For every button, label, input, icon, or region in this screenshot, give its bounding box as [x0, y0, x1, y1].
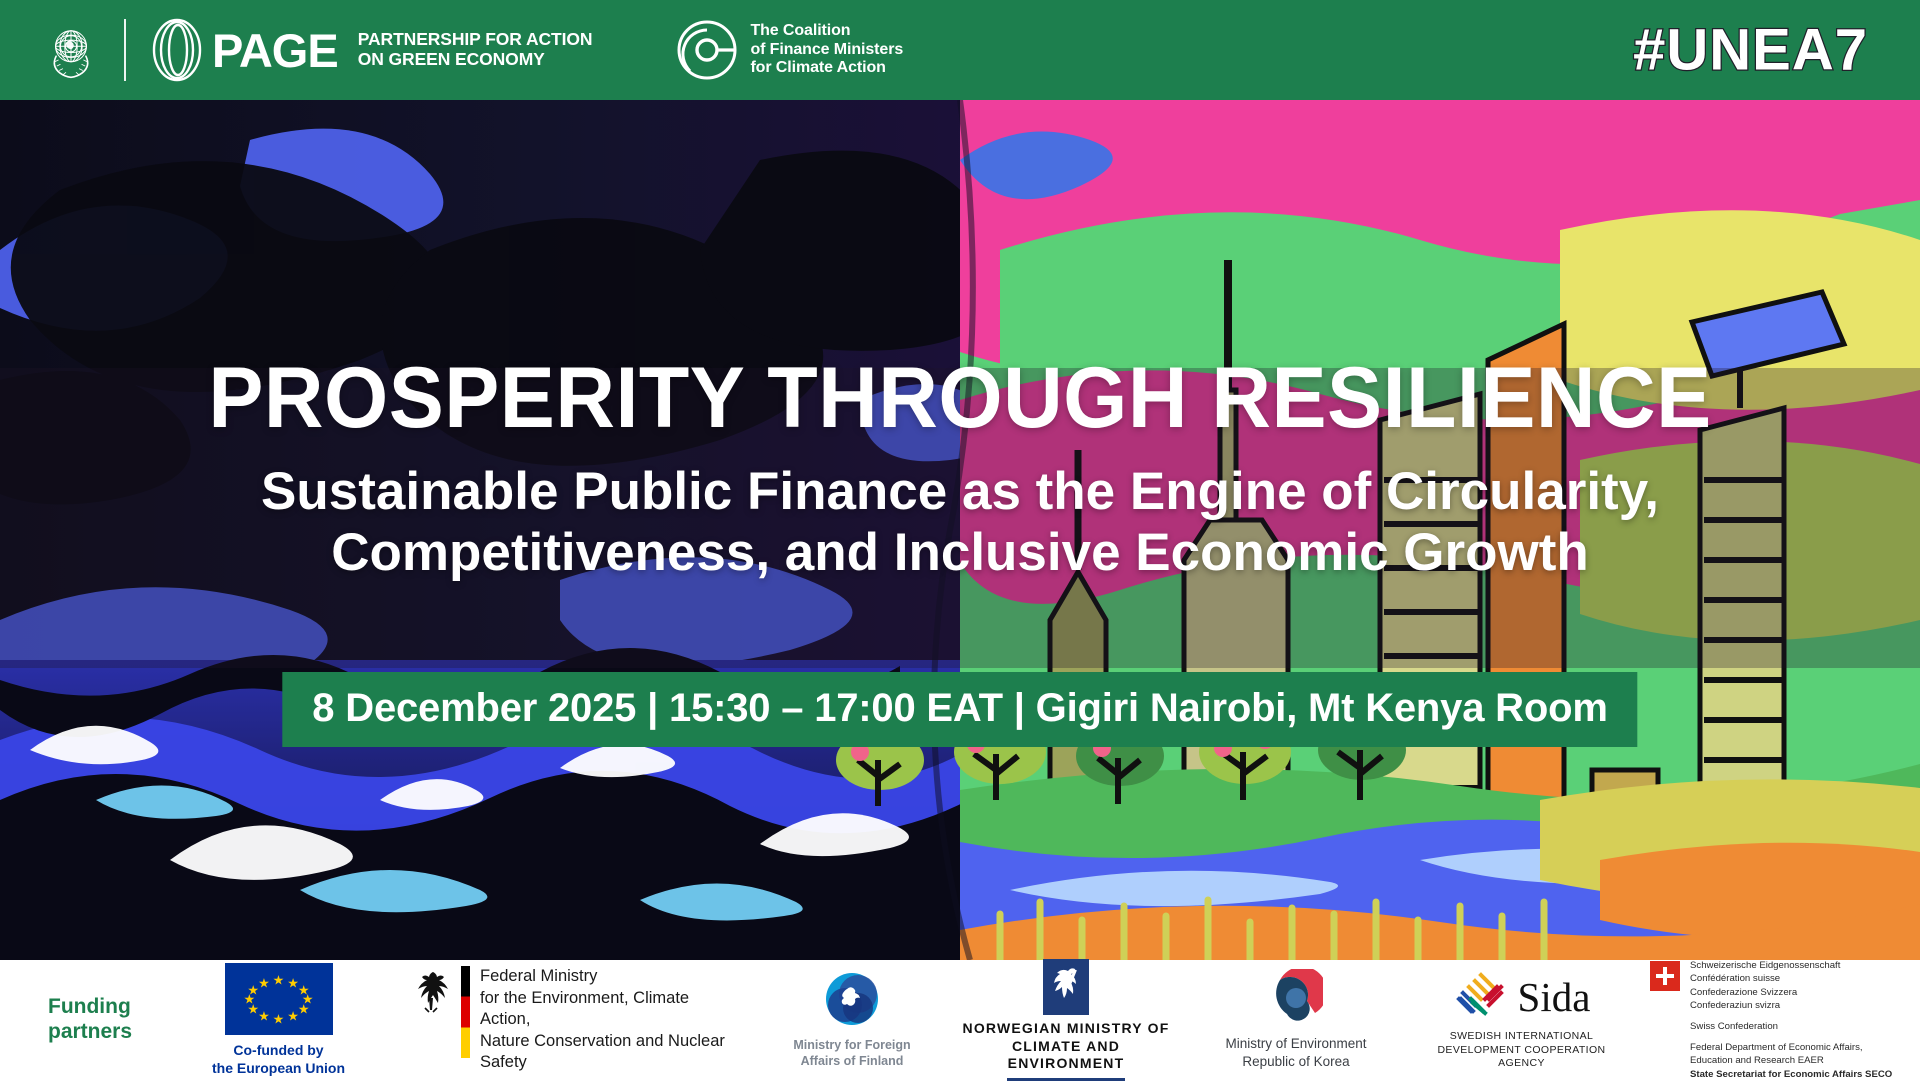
partner-logo-norway-kld: NORWEGIAN MINISTRY OF CLIMATE AND ENVIRO…: [961, 959, 1171, 1081]
un-emblem-icon: [40, 19, 102, 81]
unea7-hashtag: #UNEA7: [1633, 17, 1868, 84]
page-tagline-line-2: ON GREEN ECONOMY: [358, 50, 593, 70]
finland-lion-icon: [825, 972, 879, 1026]
eu-star-icon: ★: [287, 1010, 299, 1023]
ch-line-4: Confederaziun svizra: [1690, 999, 1892, 1013]
sida-caption-line-2: DEVELOPMENT COOPERATION AGENCY: [1419, 1044, 1624, 1071]
page-tagline-line-1: PARTNERSHIP FOR ACTION: [358, 30, 593, 50]
partner-logo-sida: Sida SWEDISH INTERNATIONAL DEVELOPMENT C…: [1419, 969, 1624, 1071]
eu-star-icon: ★: [273, 973, 285, 986]
header-bar: PAGE PARTNERSHIP FOR ACTION ON GREEN ECO…: [0, 0, 1920, 100]
norway-caption: NORWEGIAN MINISTRY OF CLIMATE AND ENVIRO…: [961, 1020, 1171, 1074]
kr-caption-line-1: Ministry of Environment: [1201, 1035, 1391, 1053]
funding-partners-footer: Funding partners ★★★★★★★★★★★★ Co-funded …: [0, 960, 1920, 1080]
swiss-seco-text: Schweizerische Eidgenossenschaft Confédé…: [1690, 959, 1892, 1081]
kr-caption-line-2: Republic of Korea: [1201, 1053, 1391, 1071]
eu-star-icon: ★: [258, 1010, 270, 1023]
de-line-3: Nature Conservation and Nuclear Safety: [480, 1031, 731, 1074]
page-subtitle: Sustainable Public Finance as the Engine…: [0, 461, 1920, 584]
coalition-line-2: of Finance Ministers: [750, 41, 903, 60]
eu-star-icon: ★: [273, 1012, 285, 1025]
page-tagline: PARTNERSHIP FOR ACTION ON GREEN ECONOMY: [358, 30, 593, 69]
sida-logo-row: Sida: [1419, 969, 1624, 1025]
coalition-text: The Coalition of Finance Ministers for C…: [750, 22, 903, 79]
fi-caption-line-1: Ministry for Foreign: [757, 1037, 947, 1053]
coalition-line-1: The Coalition: [750, 22, 903, 41]
swiss-cross-icon: [1650, 961, 1680, 991]
eu-star-icon: ★: [258, 976, 270, 989]
de-line-1: Federal Ministry: [480, 966, 731, 987]
no-caption-line-2: CLIMATE AND ENVIRONMENT: [961, 1038, 1171, 1074]
no-caption-line-1: NORWEGIAN MINISTRY OF: [961, 1020, 1171, 1038]
partner-logo-switzerland-seco: Schweizerische Eidgenossenschaft Confédé…: [1650, 959, 1920, 1081]
sida-diamond-icon: [1453, 969, 1509, 1025]
korea-caption: Ministry of Environment Republic of Kore…: [1201, 1035, 1391, 1070]
german-flag-bar-icon: [461, 966, 470, 1058]
finland-caption: Ministry for Foreign Affairs of Finland: [757, 1037, 947, 1069]
page-logo: PAGE PARTNERSHIP FOR ACTION ON GREEN ECO…: [148, 18, 592, 82]
event-banner: PAGE PARTNERSHIP FOR ACTION ON GREEN ECO…: [0, 0, 1920, 1080]
korea-taegeuk-icon: [1269, 969, 1323, 1023]
sida-caption: SWEDISH INTERNATIONAL DEVELOPMENT COOPER…: [1419, 1030, 1624, 1071]
ch-spacer-1: [1690, 1013, 1892, 1020]
eu-caption-line-1: Co-funded by: [186, 1042, 371, 1059]
ch-line-5: Swiss Confederation: [1690, 1020, 1892, 1034]
partner-logo-finland-mfa: Ministry for Foreign Affairs of Finland: [757, 972, 947, 1069]
title-block: PROSPERITY THROUGH RESILIENCE Sustainabl…: [0, 355, 1920, 584]
fi-caption-line-2: Affairs of Finland: [757, 1053, 947, 1069]
eu-star-icon: ★: [298, 1003, 310, 1016]
eu-caption-line-2: the European Union: [186, 1060, 371, 1077]
page-title: PROSPERITY THROUGH RESILIENCE: [38, 355, 1881, 441]
coalition-circle-icon: [676, 19, 738, 81]
de-line-2: for the Environment, Climate Action,: [480, 988, 731, 1031]
page-ring-icon: [148, 18, 206, 82]
ch-spacer-2: [1690, 1034, 1892, 1041]
ch-line-6: Federal Department of Economic Affairs,: [1690, 1041, 1892, 1055]
ch-line-3: Confederazione Svizzera: [1690, 986, 1892, 1000]
partner-logo-korea-moe: Ministry of Environment Republic of Kore…: [1201, 969, 1391, 1070]
ch-line-8: State Secretariat for Economic Affairs S…: [1690, 1068, 1892, 1081]
norway-lion-icon: [1043, 959, 1089, 1015]
sida-caption-line-1: SWEDISH INTERNATIONAL: [1419, 1030, 1624, 1044]
partner-logo-germany-bmuv: Federal Ministry for the Environment, Cl…: [411, 966, 731, 1073]
funding-label-line-1: Funding: [48, 995, 168, 1020]
eu-caption: Co-funded by the European Union: [186, 1042, 371, 1076]
ch-line-2: Confédération suisse: [1690, 972, 1892, 986]
header-logo-group: PAGE PARTNERSHIP FOR ACTION ON GREEN ECO…: [0, 18, 903, 82]
ch-line-7: Education and Research EAER: [1690, 1054, 1892, 1068]
eu-flag-icon: ★★★★★★★★★★★★: [225, 963, 333, 1035]
page-wordmark: PAGE: [212, 27, 338, 74]
german-eagle-icon: [411, 968, 451, 1014]
coalition-line-3: for Climate Action: [750, 59, 903, 78]
sida-wordmark: Sida: [1518, 977, 1591, 1018]
ch-line-1: Schweizerische Eidgenossenschaft: [1690, 959, 1892, 973]
german-ministry-text: Federal Ministry for the Environment, Cl…: [480, 966, 731, 1073]
partner-logo-european-union: ★★★★★★★★★★★★ Co-funded by the European U…: [186, 963, 371, 1076]
header-divider: [124, 19, 126, 81]
funding-partners-label: Funding partners: [48, 995, 168, 1045]
funding-label-line-2: partners: [48, 1020, 168, 1045]
coalition-logo: The Coalition of Finance Ministers for C…: [676, 19, 903, 81]
event-details-bar: 8 December 2025 | 15:30 – 17:00 EAT | Gi…: [282, 672, 1637, 747]
